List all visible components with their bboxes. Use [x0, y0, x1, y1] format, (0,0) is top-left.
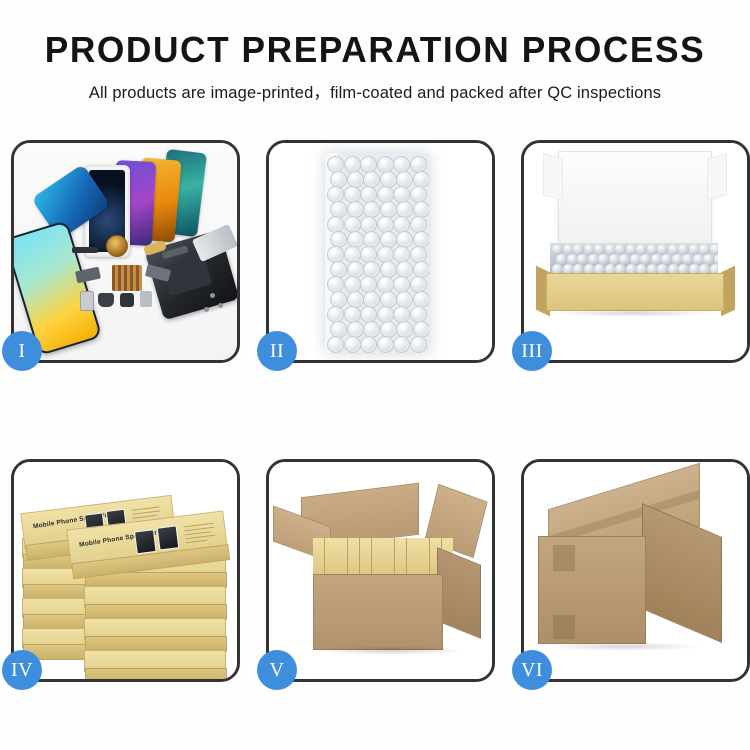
box-stack: Mobile Phone Spare Parts Mobile Phone Sp… — [20, 480, 232, 670]
battery-connector-part — [80, 291, 94, 311]
process-step-4[interactable]: Mobile Phone Spare Parts Mobile Phone Sp… — [11, 459, 240, 682]
retail-box — [84, 618, 226, 640]
bubble-wrap-bundle — [325, 153, 429, 353]
bubble — [410, 336, 427, 353]
step-1-image — [14, 143, 237, 360]
process-step-3[interactable]: III — [521, 140, 750, 363]
step-6-image — [524, 462, 747, 679]
box-shadow — [552, 309, 716, 317]
carton-flap-seam — [553, 615, 575, 639]
process-grid: I II III — [0, 140, 750, 682]
bubble — [360, 336, 377, 353]
screw-part — [204, 307, 209, 312]
process-step-1[interactable]: I — [11, 140, 240, 363]
sim-tray-part — [140, 291, 152, 307]
bubble — [377, 336, 394, 353]
carton-right-side — [437, 547, 481, 639]
bubble — [393, 336, 410, 353]
screw-part — [218, 303, 223, 308]
carton-flap-seam — [553, 545, 575, 571]
carton-side-face — [642, 503, 722, 643]
box-front-panel — [546, 273, 724, 311]
speaker-part — [98, 293, 114, 307]
camera-module-part — [120, 293, 134, 307]
step-2-image — [269, 143, 492, 360]
process-step-6[interactable]: VI — [521, 459, 750, 682]
step-3-image — [524, 143, 747, 360]
step-badge-6: VI — [512, 650, 552, 690]
bubble — [344, 336, 361, 353]
step-badge-5: V — [257, 650, 297, 690]
process-step-5[interactable]: V — [266, 459, 495, 682]
flex-cable-part — [72, 247, 98, 253]
carton-shadow — [544, 642, 704, 651]
retail-box — [84, 650, 226, 672]
carton-front-panel — [313, 574, 443, 650]
screw-part — [210, 293, 215, 298]
step-badge-4: IV — [2, 650, 42, 690]
carton-front-face — [538, 536, 646, 644]
step-badge-3: III — [512, 331, 552, 371]
page-subtitle: All products are image-printed，film-coat… — [0, 79, 750, 103]
process-step-2[interactable]: II — [266, 140, 495, 363]
bubble — [327, 336, 344, 353]
box-lid-open — [558, 151, 712, 249]
bubble-wrapped-contents — [550, 243, 718, 275]
carton-shadow — [315, 646, 465, 655]
retail-box — [84, 586, 226, 608]
step-badge-1: I — [2, 331, 42, 371]
step-5-image — [269, 462, 492, 679]
step-4-image: Mobile Phone Spare Parts Mobile Phone Sp… — [14, 462, 237, 679]
chip-grid-part — [112, 265, 142, 291]
phone-print-image — [134, 529, 157, 554]
page-title: PRODUCT PREPARATION PROCESS — [8, 30, 743, 70]
phone-print-image — [157, 525, 180, 550]
header: PRODUCT PREPARATION PROCESS All products… — [0, 0, 750, 103]
step-badge-2: II — [257, 331, 297, 371]
copper-coil-part — [106, 235, 128, 257]
